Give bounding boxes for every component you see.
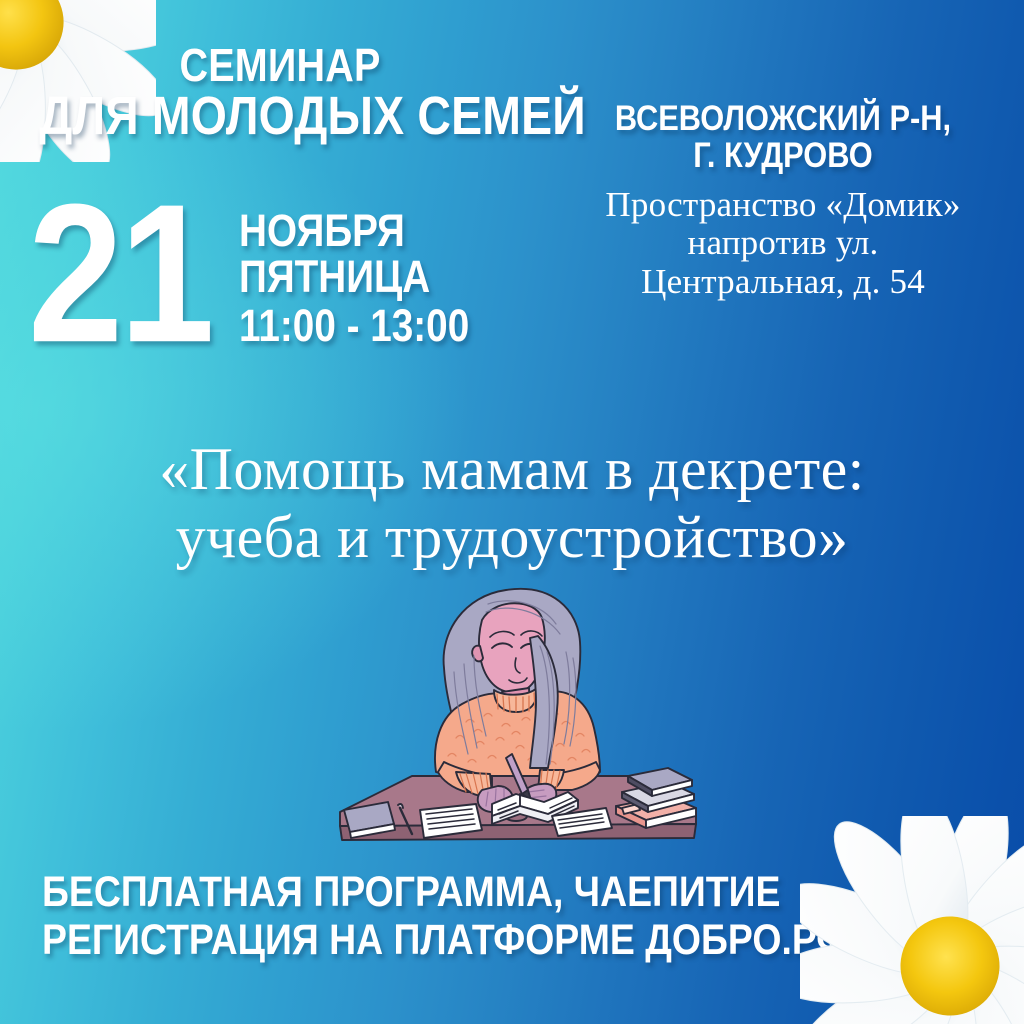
poster-canvas: СЕМИНАР ДЛЯ МОЛОДЫХ СЕМЕЙ ВСЕВОЛОЖСКИЙ Р… bbox=[0, 0, 1024, 1024]
title-line-2: учеба и трудоустройство» bbox=[0, 504, 1024, 572]
heading-line-2: ДЛЯ МОЛОДЫХ СЕМЕЙ bbox=[39, 89, 521, 144]
notes-line-2: РЕГИСТРАЦИЯ НА ПЛАТФОРМЕ ДОБРО.РФ bbox=[42, 916, 848, 964]
district-line-2: Г. КУДРОВО bbox=[590, 137, 975, 174]
woman-writing-at-desk-illustration bbox=[316, 576, 712, 864]
page-title: «Помощь мамам в декрете: учеба и трудоус… bbox=[0, 436, 1024, 572]
date-time-range: 11:00 - 13:00 bbox=[239, 303, 469, 349]
date-day-number: 21 bbox=[28, 196, 211, 354]
venue-line-3: Центральная, д. 54 bbox=[564, 263, 1002, 302]
heading-line-1: СЕМИНАР bbox=[39, 42, 521, 89]
daisy-flower-icon-bottom-right bbox=[800, 816, 1024, 1024]
date-month: НОЯБРЯ bbox=[239, 208, 469, 254]
district-line-1: ВСЕВОЛОЖСКИЙ Р-Н, bbox=[590, 100, 975, 137]
poster-heading: СЕМИНАР ДЛЯ МОЛОДЫХ СЕМЕЙ bbox=[39, 42, 521, 144]
venue-line-2: напротив ул. bbox=[564, 224, 1002, 263]
date-block: 21 НОЯБРЯ ПЯТНИЦА 11:00 - 13:00 bbox=[28, 196, 507, 349]
venue-address: Пространство «Домик» напротив ул. Центра… bbox=[564, 186, 1002, 302]
venue-line-1: Пространство «Домик» bbox=[564, 186, 1002, 225]
date-details: НОЯБРЯ ПЯТНИЦА 11:00 - 13:00 bbox=[239, 208, 469, 349]
title-line-1: «Помощь мамам в декрете: bbox=[0, 436, 1024, 504]
location-block: ВСЕВОЛОЖСКИЙ Р-Н, Г. КУДРОВО Пространств… bbox=[564, 100, 1002, 301]
notes-line-1: БЕСПЛАТНАЯ ПРОГРАММА, ЧАЕПИТИЕ bbox=[42, 868, 848, 916]
date-weekday: ПЯТНИЦА bbox=[239, 254, 469, 300]
